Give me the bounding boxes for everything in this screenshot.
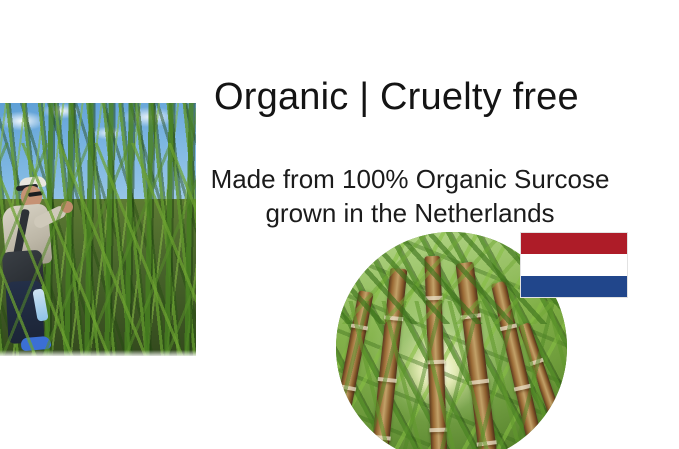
flag-red-band xyxy=(521,233,627,254)
foreground-leaves-layer xyxy=(0,143,196,356)
netherlands-flag xyxy=(520,232,628,298)
product-feature-banner: Organic | Cruelty free Made from 100% Or… xyxy=(0,0,679,449)
subheading-line-2: grown in the Netherlands xyxy=(200,196,620,230)
subheading: Made from 100% Organic Surcose grown in … xyxy=(200,162,620,230)
flag-blue-band xyxy=(521,276,627,297)
photo-bottom-fade xyxy=(0,350,196,356)
farmer-inspecting-sugarcane-photo xyxy=(0,103,196,356)
subheading-line-1: Made from 100% Organic Surcose xyxy=(200,162,620,196)
page-title: Organic | Cruelty free xyxy=(214,76,654,119)
flag-white-band xyxy=(521,254,627,275)
